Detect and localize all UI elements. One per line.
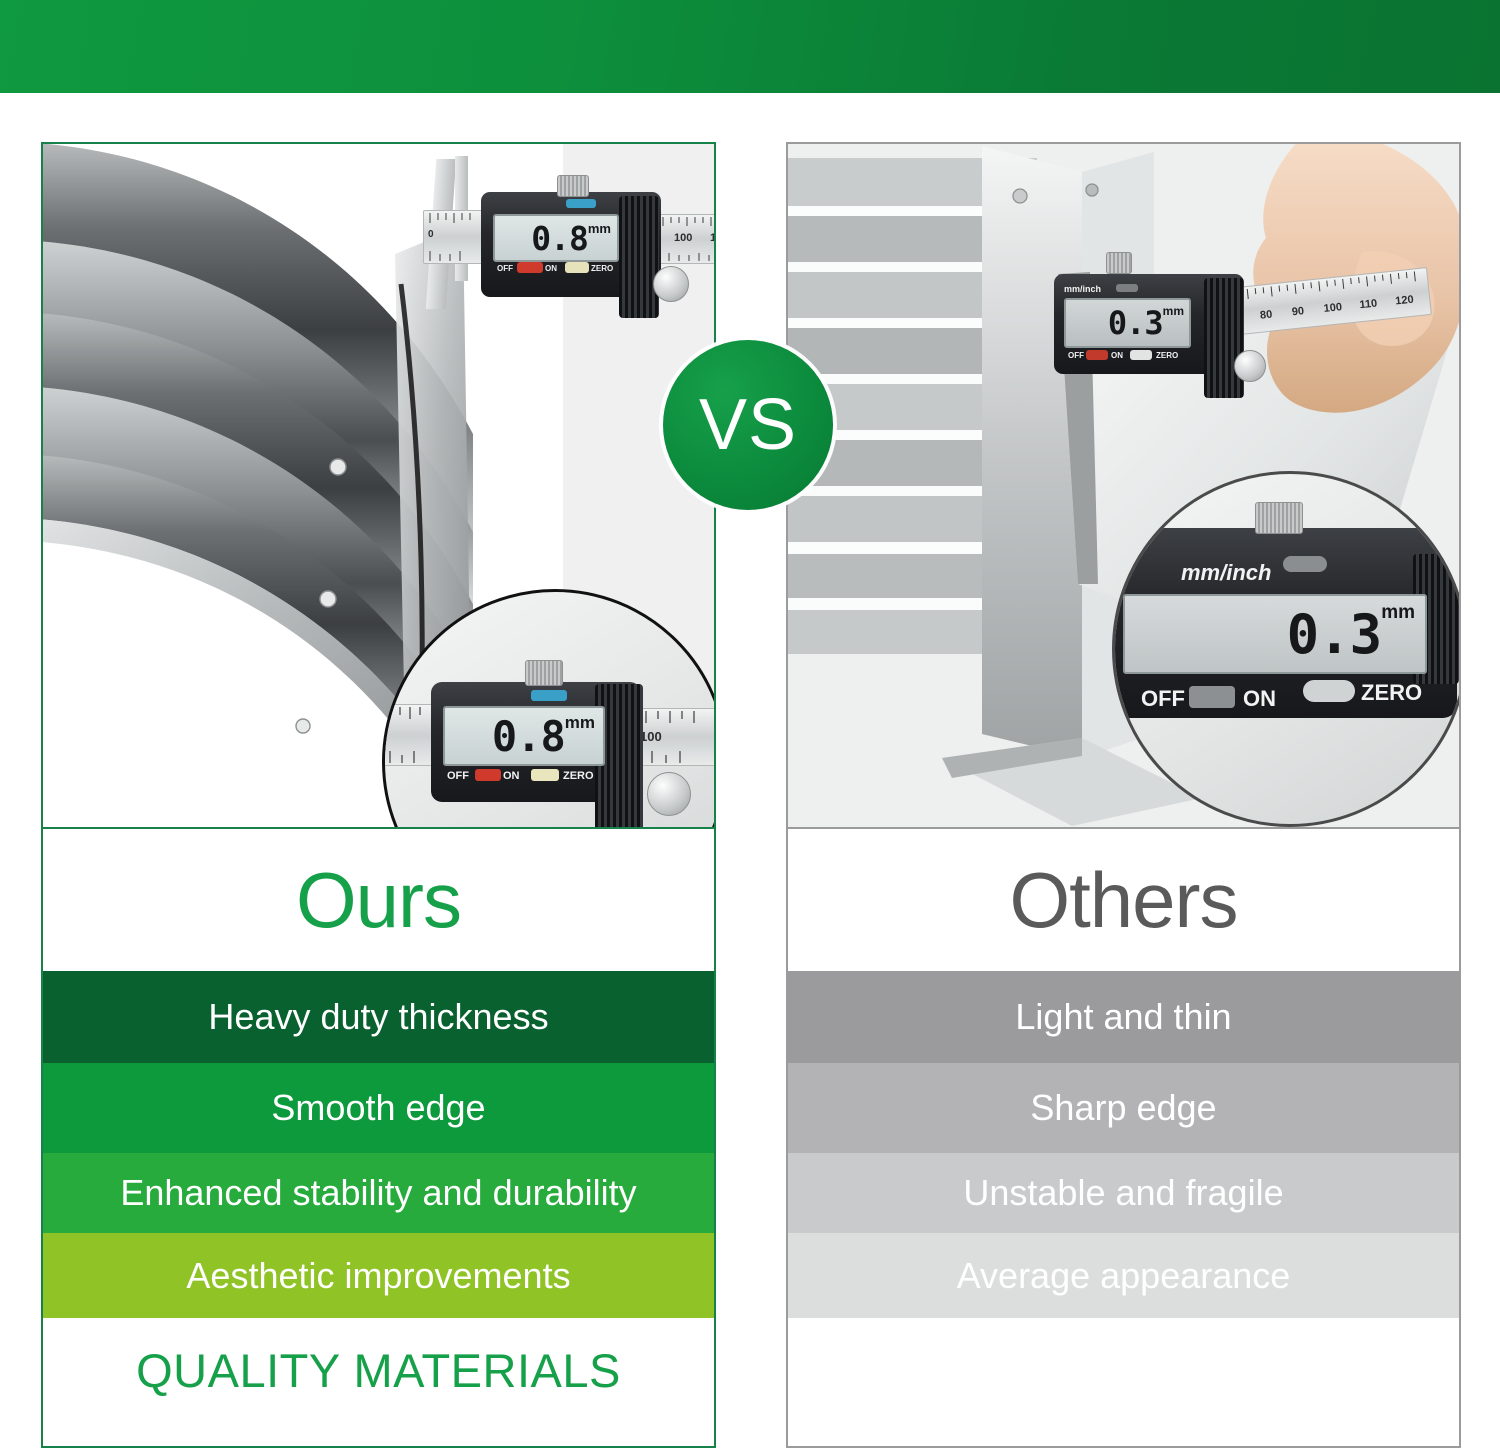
mag-zero-button-others[interactable] [1303, 680, 1355, 702]
caliper-zero-button-others[interactable] [1130, 350, 1152, 360]
caliper-reading: 0.8 [531, 219, 588, 258]
caliper-zero-label: ZERO [591, 264, 613, 273]
digital-caliper-magnified-others: mm/inch 0.3 mm OFF ON ZERO [1112, 498, 1459, 748]
caliper-power-switch[interactable] [517, 262, 543, 273]
caliper-mode-label: mm/inch [1064, 284, 1101, 294]
ruler-label: 100 [1323, 301, 1343, 315]
others-title: Others [1009, 861, 1237, 939]
others-feature-label: Average appearance [957, 1256, 1291, 1296]
ruler-label: 0 [428, 229, 434, 240]
caliper-on-label-others: ON [1111, 351, 1123, 360]
caliper-off-label: OFF [497, 264, 513, 273]
mag-on-label: ON [503, 770, 520, 782]
caliper-mode-button-mag[interactable] [531, 690, 567, 701]
ours-feature-row: Heavy duty thickness [43, 971, 714, 1063]
caliper-thumb-wheel-others[interactable] [1234, 350, 1266, 382]
caliper-reading-others: 0.3 [1108, 304, 1163, 342]
ours-feature-label: Aesthetic improvements [186, 1256, 570, 1296]
caliper-thumb-screw-mag-others [1255, 502, 1303, 534]
digital-caliper-others: 70 80 90 100 110 120 mm/inch 0.3 mm OFF [1038, 272, 1428, 462]
caliper-thumb-screw-others [1106, 252, 1132, 274]
mag-zero-label: ZERO [563, 770, 594, 782]
others-heading: Others [788, 829, 1459, 971]
ruler-label: 80 [1259, 309, 1272, 322]
caliper-thumb-wheel[interactable] [653, 266, 689, 302]
caliper-zero-button[interactable] [565, 262, 589, 273]
mag-zero-label-others: ZERO [1361, 680, 1422, 706]
others-product-photo: 70 80 90 100 110 120 mm/inch 0.3 mm OFF [788, 144, 1459, 829]
mag-mode-label: mm/inch [1181, 560, 1271, 586]
ruler-label: 110 [1359, 297, 1378, 311]
others-feature-label: Light and thin [1015, 997, 1231, 1037]
caliper-display-mag: 0.8 mm [443, 706, 605, 766]
quality-materials-label: QUALITY MATERIALS [136, 1343, 621, 1398]
others-magnifier-circle: mm/inch 0.3 mm OFF ON ZERO [1112, 471, 1459, 827]
caliper-scale-others: 70 80 90 100 110 120 [1216, 267, 1432, 337]
others-panel: 70 80 90 100 110 120 mm/inch 0.3 mm OFF [786, 142, 1461, 1448]
caliper-grip [619, 196, 659, 318]
magnifier-reading-others: 0.3 [1287, 603, 1382, 666]
mag-off-label-others: OFF [1141, 686, 1185, 712]
others-feature-row: Average appearance [788, 1233, 1459, 1318]
magnifier-unit: mm [565, 713, 595, 733]
caliper-power-switch-others[interactable] [1086, 350, 1108, 360]
caliper-display-others: 0.3 mm [1064, 298, 1191, 348]
caliper-grip-others [1204, 278, 1244, 398]
magnifier-unit-others: mm [1381, 602, 1415, 624]
caliper-on-label: ON [545, 264, 557, 273]
ours-panel: 0 [41, 142, 716, 1448]
ruler-label-mag: 100 [640, 729, 662, 744]
mag-thumb-wheel[interactable] [647, 772, 691, 816]
caliper-unit: mm [588, 221, 611, 236]
caliper-off-label-others: OFF [1068, 351, 1084, 360]
digital-caliper-top: 0 [441, 174, 714, 404]
ours-title: Ours [296, 861, 461, 939]
ours-feature-row: Aesthetic improvements [43, 1233, 714, 1318]
caliper-mode-button-others[interactable] [1116, 284, 1138, 292]
others-feature-row: Unstable and fragile [788, 1153, 1459, 1233]
vs-label: VS [699, 389, 797, 461]
ours-heading: Ours [43, 829, 714, 971]
ruler-label: 120 [1395, 294, 1415, 308]
mag-mode-button-others[interactable] [1283, 556, 1327, 572]
others-feature-label: Unstable and fragile [963, 1173, 1283, 1213]
caliper-thumb-screw-mag [525, 660, 563, 686]
caliper-mode-button[interactable] [566, 199, 596, 208]
mag-zero-button[interactable] [531, 769, 559, 781]
ours-feature-rows: Heavy duty thickness Smooth edge Enhance… [43, 971, 714, 1318]
ruler-label: 100 [674, 232, 692, 244]
ours-feature-label: Heavy duty thickness [208, 997, 548, 1037]
mag-off-label: OFF [447, 770, 469, 782]
ours-feature-label: Enhanced stability and durability [120, 1173, 636, 1213]
caliper-display-mag-others: 0.3 mm [1123, 594, 1427, 674]
caliper-thumb-screw [557, 175, 589, 197]
ours-feature-row: Smooth edge [43, 1063, 714, 1153]
others-feature-row: Sharp edge [788, 1063, 1459, 1153]
ours-product-photo: 0 [43, 144, 714, 829]
top-green-banner [0, 0, 1500, 93]
ours-feature-label: Smooth edge [271, 1088, 485, 1128]
others-feature-label: Sharp edge [1030, 1088, 1216, 1128]
others-feature-row: Light and thin [788, 971, 1459, 1063]
caliper-display: 0.8 mm [493, 214, 619, 262]
magnifier-reading: 0.8 [492, 712, 565, 761]
mag-on-label-others: ON [1243, 686, 1276, 712]
mag-power-switch-others[interactable] [1189, 686, 1235, 708]
vs-badge: VS [663, 340, 833, 510]
mag-power-switch[interactable] [475, 769, 501, 781]
caliper-zero-label-others: ZERO [1156, 351, 1178, 360]
others-footer-band [788, 1318, 1459, 1423]
caliper-unit-others: mm [1163, 304, 1184, 318]
ours-feature-row: Enhanced stability and durability [43, 1153, 714, 1233]
ruler-label: 110 [710, 232, 714, 244]
digital-caliper-magnified: 100 0.8 mm OFF ON ZERO [403, 674, 713, 829]
ruler-label: 90 [1291, 305, 1304, 318]
ours-footer-band: QUALITY MATERIALS [43, 1318, 714, 1423]
others-feature-rows: Light and thin Sharp edge Unstable and f… [788, 971, 1459, 1318]
